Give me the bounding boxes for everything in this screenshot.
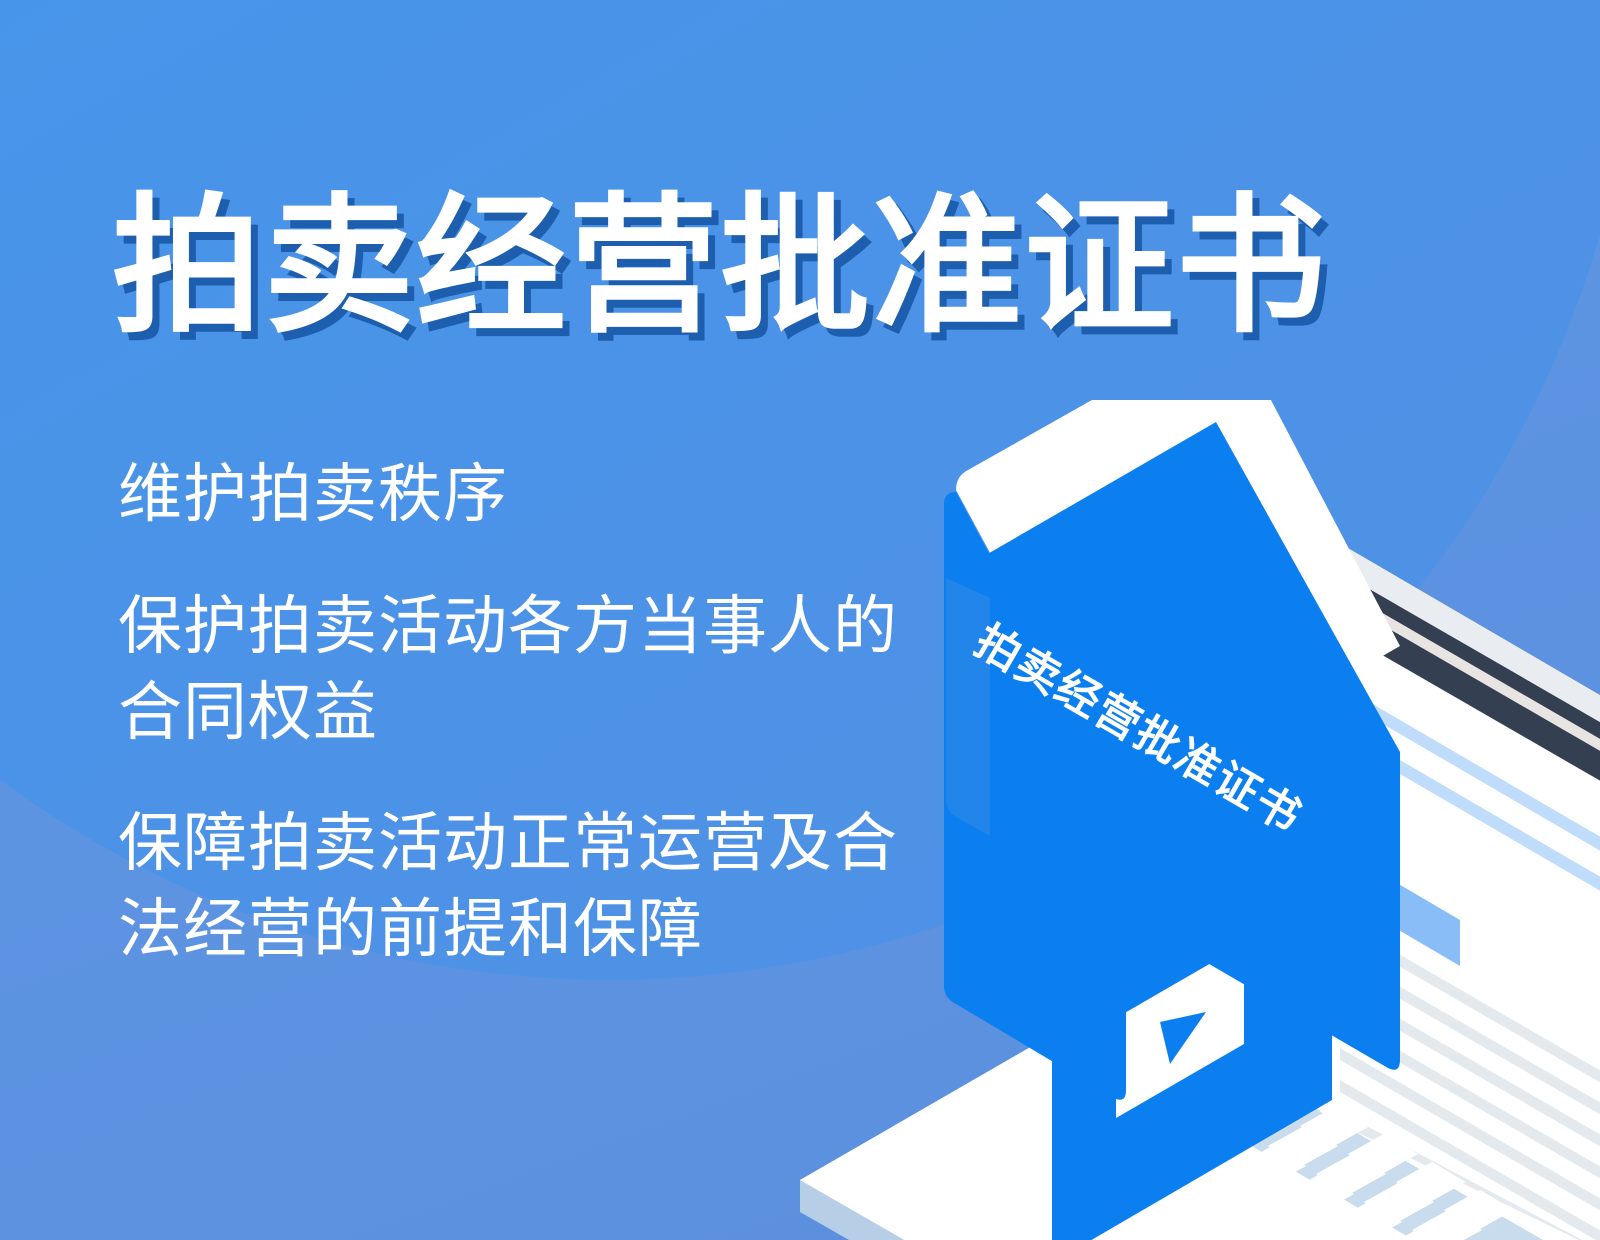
isometric-illustration: 拍卖经营批准证书	[760, 400, 1600, 1240]
poster-canvas: 拍卖经营批准证书 维护拍卖秩序 保护拍卖活动各方当事人的合同权益 保障拍卖活动正…	[0, 0, 1600, 1240]
page-title: 拍卖经营批准证书	[112, 182, 1328, 350]
